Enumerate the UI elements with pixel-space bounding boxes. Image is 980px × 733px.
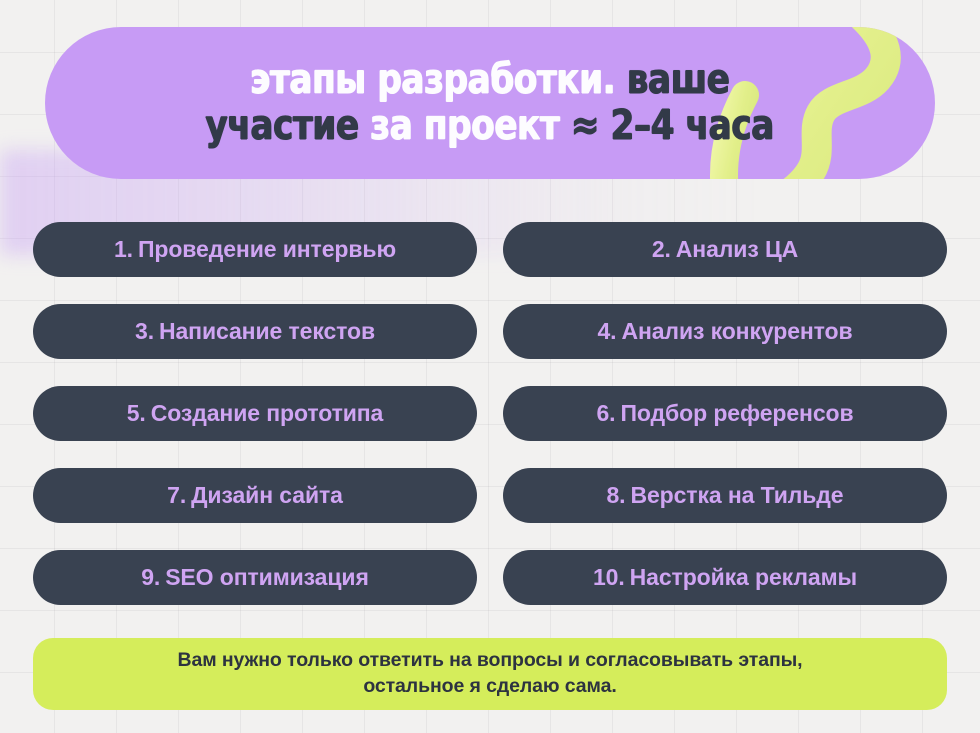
step-label-10: 10.Настройка рекламы bbox=[593, 564, 857, 591]
title-segment-per-project: за проект bbox=[371, 101, 560, 149]
step-number-5: 5. bbox=[127, 400, 146, 426]
step-label-2: 2.Анализ ЦА bbox=[652, 236, 798, 263]
step-number-3: 3. bbox=[135, 318, 154, 344]
step-title-4: Анализ конкурентов bbox=[621, 318, 852, 344]
step-title-1: Проведение интервью bbox=[138, 236, 396, 262]
step-pill-1[interactable]: 1.Проведение интервью bbox=[33, 222, 477, 277]
step-title-10: Настройка рекламы bbox=[630, 564, 857, 590]
step-pill-8[interactable]: 8.Верстка на Тильде bbox=[503, 468, 947, 523]
step-number-4: 4. bbox=[597, 318, 616, 344]
header-title-block: этапы разработки. ваше участие за проект… bbox=[45, 27, 935, 179]
step-number-9: 9. bbox=[141, 564, 160, 590]
step-pill-6[interactable]: 6.Подбор референсов bbox=[503, 386, 947, 441]
step-pill-7[interactable]: 7.Дизайн сайта bbox=[33, 468, 477, 523]
step-title-3: Написание текстов bbox=[159, 318, 375, 344]
footer-line-2: остальное я сделаю сама. bbox=[363, 674, 616, 700]
footer-line-1: Вам нужно только ответить на вопросы и с… bbox=[177, 648, 802, 674]
step-number-2: 2. bbox=[652, 236, 671, 262]
step-pill-4[interactable]: 4.Анализ конкурентов bbox=[503, 304, 947, 359]
step-title-8: Верстка на Тильде bbox=[630, 482, 843, 508]
title-segment-participation: участие bbox=[206, 101, 359, 149]
title-line-1: этапы разработки. ваше bbox=[250, 58, 729, 102]
step-number-8: 8. bbox=[606, 482, 625, 508]
title-line-2: участие за проект ≈ 2–4 часа bbox=[206, 104, 774, 148]
step-label-6: 6.Подбор референсов bbox=[596, 400, 853, 427]
step-pill-5[interactable]: 5.Создание прототипа bbox=[33, 386, 477, 441]
slide-canvas: этапы разработки. ваше участие за проект… bbox=[0, 0, 980, 733]
header-banner: этапы разработки. ваше участие за проект… bbox=[45, 27, 935, 179]
step-title-5: Создание прототипа bbox=[151, 400, 384, 426]
step-label-8: 8.Верстка на Тильде bbox=[606, 482, 843, 509]
step-label-9: 9.SEO оптимизация bbox=[141, 564, 369, 591]
step-number-10: 10. bbox=[593, 564, 625, 590]
step-label-7: 7.Дизайн сайта bbox=[167, 482, 343, 509]
step-title-6: Подбор референсов bbox=[620, 400, 853, 426]
step-pill-3[interactable]: 3.Написание текстов bbox=[33, 304, 477, 359]
step-label-5: 5.Создание прототипа bbox=[127, 400, 384, 427]
step-title-7: Дизайн сайта bbox=[191, 482, 343, 508]
step-label-1: 1.Проведение интервью bbox=[114, 236, 396, 263]
step-label-4: 4.Анализ конкурентов bbox=[597, 318, 852, 345]
title-segment-your: ваше bbox=[627, 55, 730, 103]
steps-grid: 1.Проведение интервью 2.Анализ ЦА 3.Напи… bbox=[33, 222, 947, 605]
step-pill-10[interactable]: 10.Настройка рекламы bbox=[503, 550, 947, 605]
title-segment-stages: этапы разработки. bbox=[250, 55, 615, 103]
title-segment-hours: ≈ 2–4 часа bbox=[571, 101, 774, 149]
step-number-7: 7. bbox=[167, 482, 186, 508]
footer-note-banner: Вам нужно только ответить на вопросы и с… bbox=[33, 638, 947, 710]
step-number-6: 6. bbox=[596, 400, 615, 426]
step-number-1: 1. bbox=[114, 236, 133, 262]
step-title-9: SEO оптимизация bbox=[165, 564, 369, 590]
step-pill-2[interactable]: 2.Анализ ЦА bbox=[503, 222, 947, 277]
step-label-3: 3.Написание текстов bbox=[135, 318, 375, 345]
step-title-2: Анализ ЦА bbox=[676, 236, 798, 262]
step-pill-9[interactable]: 9.SEO оптимизация bbox=[33, 550, 477, 605]
